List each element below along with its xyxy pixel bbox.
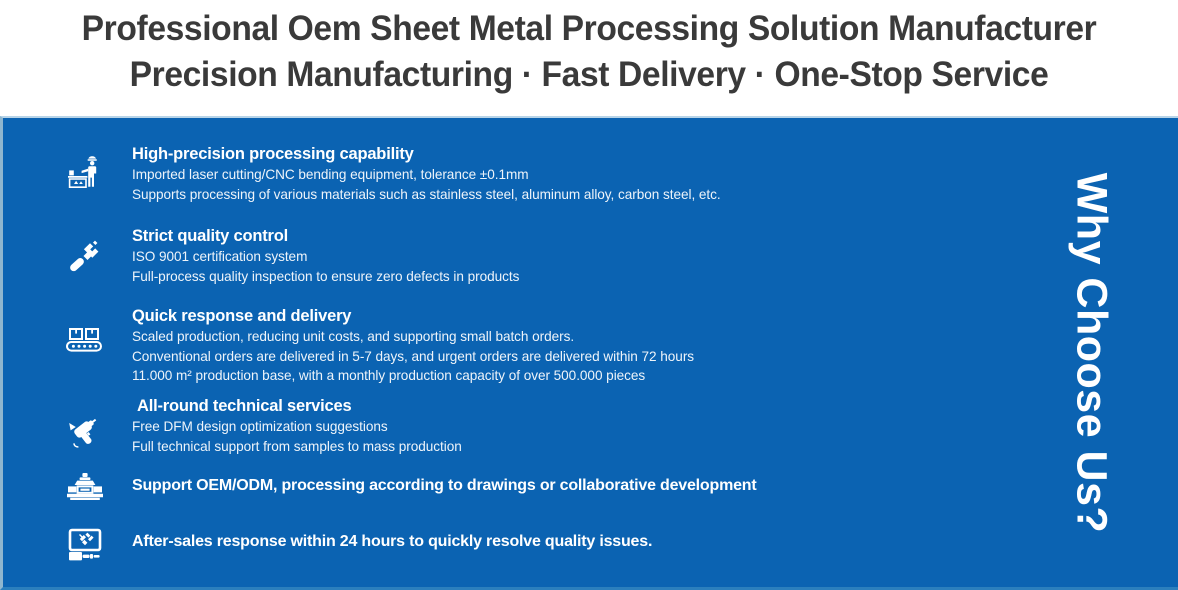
- list-item-body: All-round technical services Free DFM de…: [132, 396, 462, 456]
- cnc-operator-icon: [63, 150, 107, 194]
- list-item-title: After-sales response within 24 hours to …: [132, 532, 652, 552]
- list-item-title: Quick response and delivery: [132, 306, 694, 327]
- list-item-detail: Full technical support from samples to m…: [132, 437, 462, 457]
- side-label-text: Why Choose Us?: [1069, 172, 1112, 533]
- conveyor-boxes-icon: [63, 321, 107, 365]
- list-item-body: Strict quality control ISO 9001 certific…: [132, 226, 519, 286]
- features-panel: High-precision processing capability Imp…: [0, 116, 1178, 590]
- list-item-detail: ISO 9001 certification system: [132, 247, 519, 267]
- monitor-wrench-icon: [63, 523, 107, 567]
- list-item-title: Strict quality control: [132, 226, 519, 247]
- features-list: High-precision processing capability Imp…: [3, 118, 943, 587]
- list-item-body: After-sales response within 24 hours to …: [132, 532, 652, 552]
- list-item-detail: 11.000 m² production base, with a monthl…: [132, 366, 694, 386]
- list-item-detail: Free DFM design optimization suggestions: [132, 417, 462, 437]
- page-title: Professional Oem Sheet Metal Processing …: [0, 6, 1178, 97]
- list-item-title: Support OEM/ODM, processing according to…: [132, 476, 757, 496]
- list-item-body: Support OEM/ODM, processing according to…: [132, 476, 757, 496]
- list-item-title: High-precision processing capability: [132, 144, 721, 165]
- side-label: Why Choose Us?: [1003, 118, 1178, 587]
- press-machine-icon: [63, 466, 107, 510]
- promo-banner: Professional Oem Sheet Metal Processing …: [0, 0, 1178, 590]
- list-item-detail: Full-process quality inspection to ensur…: [132, 267, 519, 287]
- wrench-icon: [63, 234, 107, 278]
- list-item-detail: Imported laser cutting/CNC bending equip…: [132, 165, 721, 185]
- list-item-detail: Supports processing of various materials…: [132, 185, 721, 205]
- list-item-body: Quick response and delivery Scaled produ…: [132, 306, 694, 386]
- list-item-title: All-round technical services: [132, 396, 462, 417]
- headline-line-1: Professional Oem Sheet Metal Processing …: [24, 6, 1155, 52]
- list-item-detail: Scaled production, reducing unit costs, …: [132, 327, 694, 347]
- headline-line-2: Precision Manufacturing · Fast Delivery …: [24, 52, 1155, 97]
- power-drill-icon: [63, 412, 107, 456]
- list-item-detail: Conventional orders are delivered in 5-7…: [132, 347, 694, 367]
- list-item-body: High-precision processing capability Imp…: [132, 144, 721, 204]
